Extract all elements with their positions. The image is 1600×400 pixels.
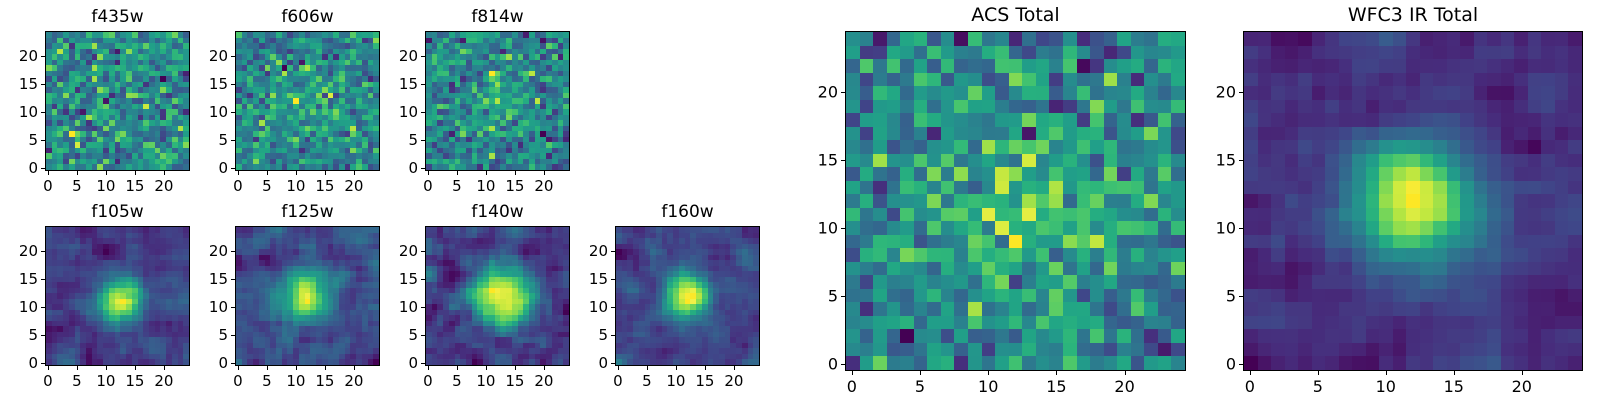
heatmap-cell (1144, 194, 1158, 208)
heatmap-cell (914, 235, 928, 249)
heatmap-cell (1077, 154, 1091, 168)
y-axis-tick-label: 0 (387, 354, 418, 372)
heatmap-cell (968, 154, 982, 168)
heatmap-cell (914, 59, 928, 73)
heatmap-cell (873, 32, 887, 46)
heatmap-cell (900, 235, 914, 249)
x-axis-tick (734, 366, 735, 370)
heatmap-cell (1104, 100, 1118, 114)
heatmap-cell (1144, 167, 1158, 181)
heatmap-cell (1090, 208, 1104, 222)
heatmap-cell (1077, 235, 1091, 249)
y-axis-tick (231, 251, 235, 252)
heatmap-cell (1009, 73, 1023, 87)
heatmap-cell (846, 154, 860, 168)
heatmap-cell (968, 235, 982, 249)
y-axis-tick-label: 15 (387, 75, 418, 93)
heatmap-axes (425, 31, 570, 171)
heatmap-cell (1090, 181, 1104, 195)
x-axis-tick-label: 0 (233, 177, 243, 195)
heatmap-cell (1009, 208, 1023, 222)
heatmap-cell (1158, 86, 1172, 100)
heatmap-cell (1158, 262, 1172, 276)
heatmap-cell (1171, 59, 1185, 73)
heatmap-cell (968, 59, 982, 73)
heatmap-cell (1022, 235, 1036, 249)
heatmap-cell (1090, 59, 1104, 73)
heatmap-cell (873, 221, 887, 235)
heatmap-cell (900, 113, 914, 127)
heatmap-cell (941, 235, 955, 249)
panel-title: ACS Total (845, 4, 1186, 26)
heatmap-cell (1077, 113, 1091, 127)
heatmap-cell (1049, 100, 1063, 114)
heatmap-cell (968, 181, 982, 195)
heatmap-cell (914, 262, 928, 276)
heatmap-cell (1104, 221, 1118, 235)
heatmap-cell (900, 100, 914, 114)
heatmap-cell (995, 181, 1009, 195)
heatmap-cell (1131, 235, 1145, 249)
heatmap-cell (846, 248, 860, 262)
heatmap-cell (1022, 221, 1036, 235)
heatmap-cell (995, 167, 1009, 181)
heatmap-cell (995, 221, 1009, 235)
panel-title: f814w (425, 7, 570, 27)
heatmap-cell (982, 59, 996, 73)
x-axis-tick-label: 5 (262, 372, 272, 390)
heatmap-cell (1022, 73, 1036, 87)
heatmap-cell (1104, 235, 1118, 249)
heatmap-cell (954, 194, 968, 208)
heatmap-image (426, 32, 569, 170)
heatmap-cell (873, 86, 887, 100)
heatmap-cell (954, 59, 968, 73)
heatmap-cell (873, 167, 887, 181)
heatmap-image (426, 227, 569, 365)
heatmap-cell (1171, 167, 1185, 181)
heatmap-cell (846, 167, 860, 181)
heatmap-cell (914, 100, 928, 114)
heatmap-cell (1131, 32, 1145, 46)
heatmap-cell (914, 154, 928, 168)
heatmap-cell (860, 208, 874, 222)
heatmap-cell (1063, 194, 1077, 208)
heatmap-cell (1077, 181, 1091, 195)
heatmap-cell (373, 359, 379, 365)
heatmap-cell (995, 235, 1009, 249)
multi-panel-cutout-figure: f435w0510152005101520f606w05101520051015… (0, 0, 1600, 400)
y-axis-tick-label: 15 (387, 270, 418, 288)
heatmap-cell (1036, 221, 1050, 235)
heatmap-cell (1144, 221, 1158, 235)
heatmap-cell (982, 208, 996, 222)
heatmap-cell (860, 275, 874, 289)
heatmap-cell (995, 140, 1009, 154)
heatmap-cell (1131, 127, 1145, 141)
heatmap-cell (1009, 221, 1023, 235)
y-axis-tick-label: 0 (197, 354, 228, 372)
y-axis-tick (41, 307, 45, 308)
heatmap-cell (1049, 140, 1063, 154)
heatmap-cell (1158, 140, 1172, 154)
heatmap-cell (1036, 32, 1050, 46)
heatmap-cell (1077, 46, 1091, 60)
y-axis-tick-label: 20 (387, 47, 418, 65)
heatmap-cell (927, 181, 941, 195)
heatmap-cell (873, 248, 887, 262)
y-axis-tick-label: 5 (577, 326, 608, 344)
heatmap-cell (941, 208, 955, 222)
heatmap-cell (1036, 208, 1050, 222)
heatmap-cell (1131, 100, 1145, 114)
heatmap-cell (373, 164, 379, 170)
heatmap-cell (1090, 113, 1104, 127)
heatmap-cell (1171, 100, 1185, 114)
x-axis-tick-label: 5 (452, 372, 462, 390)
heatmap-cell (873, 59, 887, 73)
heatmap-cell (1104, 262, 1118, 276)
heatmap-cell (1158, 73, 1172, 87)
heatmap-cell (1158, 208, 1172, 222)
heatmap-cell (563, 359, 569, 365)
heatmap-cell (1090, 73, 1104, 87)
y-axis-tick (41, 251, 45, 252)
heatmap-cell (860, 154, 874, 168)
heatmap-cell (968, 262, 982, 276)
heatmap-cell (1144, 140, 1158, 154)
heatmap-cell (1090, 86, 1104, 100)
heatmap-cell (941, 100, 955, 114)
heatmap-cell (1036, 86, 1050, 100)
heatmap-cell (1117, 235, 1131, 249)
heatmap-cell (1158, 181, 1172, 195)
heatmap-image (46, 32, 189, 170)
heatmap-axes (235, 31, 380, 171)
x-axis-tick (515, 366, 516, 370)
cutout-panel: f606w0510152005101520 (197, 7, 390, 195)
heatmap-cell (1009, 127, 1023, 141)
x-axis-tick-label: 20 (534, 372, 553, 390)
cutout-panel: f125w0510152005101520 (197, 202, 390, 390)
heatmap-cell (1077, 262, 1091, 276)
heatmap-cell (1009, 32, 1023, 46)
x-axis-tick (486, 366, 487, 370)
y-axis-tick (421, 363, 425, 364)
heatmap-cell (914, 221, 928, 235)
heatmap-cell (1077, 248, 1091, 262)
heatmap-cell (995, 208, 1009, 222)
y-axis-tick (41, 279, 45, 280)
heatmap-cell (860, 73, 874, 87)
heatmap-cell (900, 140, 914, 154)
heatmap-cell (1077, 221, 1091, 235)
heatmap-cell (1036, 113, 1050, 127)
x-axis-tick (544, 171, 545, 175)
x-axis-tick (457, 171, 458, 175)
heatmap-cell (954, 154, 968, 168)
heatmap-cell (1063, 86, 1077, 100)
heatmap-cell (995, 73, 1009, 87)
heatmap-cell (1063, 167, 1077, 181)
heatmap-cell (1104, 140, 1118, 154)
x-axis-tick-label: 0 (613, 372, 623, 390)
heatmap-cell (1131, 262, 1145, 276)
x-axis-tick (267, 171, 268, 175)
x-axis-tick (705, 366, 706, 370)
heatmap-cell (860, 59, 874, 73)
heatmap-cell (1158, 167, 1172, 181)
heatmap-cell (1036, 262, 1050, 276)
x-axis-tick-label: 0 (423, 177, 433, 195)
heatmap-cell (1077, 127, 1091, 141)
heatmap-cell (1009, 59, 1023, 73)
y-axis-tick-label: 5 (7, 326, 38, 344)
heatmap-cell (900, 46, 914, 60)
heatmap-cell (1063, 100, 1077, 114)
heatmap-cell (1131, 46, 1145, 60)
heatmap-cell (968, 127, 982, 141)
heatmap-cell (1036, 248, 1050, 262)
y-axis-tick-label: 15 (7, 270, 38, 288)
heatmap-cell (887, 113, 901, 127)
heatmap-cell (995, 113, 1009, 127)
x-axis-tick (428, 366, 429, 370)
heatmap-cell (1077, 86, 1091, 100)
cutout-panel: ACS Total0510152005101520 (799, 4, 1196, 399)
heatmap-cell (846, 46, 860, 60)
heatmap-cell (914, 86, 928, 100)
heatmap-cell (1158, 100, 1172, 114)
heatmap-cell (927, 262, 941, 276)
panel-title: f435w (45, 7, 190, 27)
heatmap-cell (927, 154, 941, 168)
cutout-panel: f814w0510152005101520 (387, 7, 580, 195)
heatmap-cell (1063, 235, 1077, 249)
heatmap-cell (1144, 262, 1158, 276)
heatmap-cell (1077, 208, 1091, 222)
heatmap-cell (1090, 221, 1104, 235)
x-axis-tick (428, 171, 429, 175)
heatmap-cell (887, 167, 901, 181)
heatmap-cell (1022, 127, 1036, 141)
y-axis-tick-label: 10 (387, 103, 418, 121)
heatmap-cell (860, 100, 874, 114)
heatmap-cell (887, 248, 901, 262)
heatmap-cell (1131, 59, 1145, 73)
heatmap-cell (941, 181, 955, 195)
heatmap-cell (1131, 208, 1145, 222)
heatmap-cell (1144, 100, 1158, 114)
x-axis-tick (135, 171, 136, 175)
y-axis-tick-label: 10 (197, 298, 228, 316)
heatmap-cell (1022, 181, 1036, 195)
heatmap-cell (900, 208, 914, 222)
heatmap-cell (1090, 46, 1104, 60)
heatmap-cell (860, 235, 874, 249)
heatmap-cell (1171, 194, 1185, 208)
y-axis-tick-label: 10 (7, 103, 38, 121)
heatmap-cell (846, 262, 860, 276)
heatmap-cell (1104, 154, 1118, 168)
heatmap-cell (846, 275, 860, 289)
heatmap-cell (914, 46, 928, 60)
heatmap-cell (1144, 86, 1158, 100)
heatmap-cell (183, 359, 189, 365)
heatmap-cell (1009, 86, 1023, 100)
heatmap-cell (900, 221, 914, 235)
heatmap-cell (1144, 59, 1158, 73)
heatmap-cell (887, 140, 901, 154)
heatmap-cell (1131, 181, 1145, 195)
heatmap-cell (873, 154, 887, 168)
heatmap-cell (968, 140, 982, 154)
y-axis-tick (41, 335, 45, 336)
heatmap-cell (1063, 127, 1077, 141)
heatmap-image (46, 227, 189, 365)
cutout-panel: f435w0510152005101520 (7, 7, 200, 195)
heatmap-cell (1022, 248, 1036, 262)
heatmap-cell (900, 248, 914, 262)
heatmap-cell (927, 221, 941, 235)
heatmap-cell (1158, 221, 1172, 235)
heatmap-axes (45, 31, 190, 171)
heatmap-cell (1049, 208, 1063, 222)
heatmap-cell (860, 262, 874, 276)
x-axis-tick-label: 15 (125, 372, 144, 390)
heatmap-cell (995, 59, 1009, 73)
heatmap-cell (941, 46, 955, 60)
heatmap-cell (1063, 73, 1077, 87)
heatmap-cell (1022, 140, 1036, 154)
heatmap-cell (995, 46, 1009, 60)
heatmap-cell (1117, 127, 1131, 141)
y-axis-tick (231, 112, 235, 113)
x-axis-tick (267, 366, 268, 370)
heatmap-cell (1117, 113, 1131, 127)
heatmap-cell (995, 194, 1009, 208)
heatmap-cell (914, 248, 928, 262)
heatmap-cell (914, 140, 928, 154)
heatmap-cell (995, 154, 1009, 168)
heatmap-cell (1117, 140, 1131, 154)
heatmap-cell (1022, 262, 1036, 276)
heatmap-cell (873, 235, 887, 249)
panel-title: f125w (235, 202, 380, 222)
heatmap-cell (887, 73, 901, 87)
heatmap-cell (860, 86, 874, 100)
heatmap-cell (1022, 167, 1036, 181)
cutout-panel: f140w0510152005101520 (387, 202, 580, 390)
heatmap-cell (900, 154, 914, 168)
heatmap-axes (615, 226, 760, 366)
y-axis-tick (231, 335, 235, 336)
heatmap-cell (1009, 140, 1023, 154)
heatmap-cell (982, 248, 996, 262)
heatmap-cell (954, 100, 968, 114)
x-axis-tick-label: 10 (96, 372, 115, 390)
x-axis-tick-label: 0 (43, 372, 53, 390)
heatmap-cell (1131, 154, 1145, 168)
cutout-panel: f160w0510152005101520 (577, 202, 770, 390)
heatmap-cell (941, 113, 955, 127)
heatmap-cell (1036, 140, 1050, 154)
x-axis-tick-label: 15 (505, 177, 524, 195)
heatmap-cell (873, 100, 887, 114)
heatmap-cell (1009, 262, 1023, 276)
x-axis-tick-label: 20 (344, 177, 363, 195)
heatmap-cell (954, 73, 968, 87)
heatmap-cell (1158, 154, 1172, 168)
heatmap-cell (982, 100, 996, 114)
heatmap-cell (1009, 113, 1023, 127)
x-axis-tick-label: 5 (642, 372, 652, 390)
heatmap-image (616, 227, 759, 365)
heatmap-cell (982, 127, 996, 141)
heatmap-cell (954, 181, 968, 195)
heatmap-cell (846, 221, 860, 235)
x-axis-tick (238, 171, 239, 175)
heatmap-cell (887, 32, 901, 46)
y-axis-tick (231, 140, 235, 141)
heatmap-cell (927, 86, 941, 100)
heatmap-cell (1077, 100, 1091, 114)
y-axis-tick-label: 10 (577, 298, 608, 316)
heatmap-cell (873, 113, 887, 127)
heatmap-cell (846, 127, 860, 141)
heatmap-cell (1022, 100, 1036, 114)
heatmap-cell (1117, 167, 1131, 181)
heatmap-cell (1131, 167, 1145, 181)
heatmap-cell (954, 140, 968, 154)
y-axis-tick-label: 0 (577, 354, 608, 372)
heatmap-cell (1036, 100, 1050, 114)
heatmap-cell (954, 248, 968, 262)
x-axis-tick-label: 10 (476, 372, 495, 390)
heatmap-cell (1171, 46, 1185, 60)
y-axis-tick (421, 251, 425, 252)
heatmap-cell (914, 194, 928, 208)
y-axis-tick (421, 112, 425, 113)
heatmap-cell (1063, 181, 1077, 195)
heatmap-cell (1049, 167, 1063, 181)
heatmap-cell (1009, 154, 1023, 168)
x-axis-tick-label: 0 (423, 372, 433, 390)
y-axis-tick (231, 84, 235, 85)
heatmap-cell (1104, 46, 1118, 60)
heatmap-cell (982, 86, 996, 100)
y-axis-tick (231, 168, 235, 169)
x-axis-tick (296, 171, 297, 175)
heatmap-cell (927, 140, 941, 154)
heatmap-cell (1049, 127, 1063, 141)
y-axis-tick-label: 10 (197, 103, 228, 121)
heatmap-cell (1171, 235, 1185, 249)
heatmap-cell (1117, 248, 1131, 262)
heatmap-cell (1090, 235, 1104, 249)
heatmap-cell (941, 221, 955, 235)
x-axis-tick-label: 20 (724, 372, 743, 390)
y-axis-tick (421, 279, 425, 280)
y-axis-tick-label: 20 (7, 47, 38, 65)
heatmap-cell (1090, 127, 1104, 141)
heatmap-cell (914, 73, 928, 87)
y-axis-tick-label: 5 (197, 326, 228, 344)
heatmap-cell (887, 86, 901, 100)
x-axis-tick (164, 171, 165, 175)
heatmap-cell (1171, 86, 1185, 100)
heatmap-cell (860, 194, 874, 208)
